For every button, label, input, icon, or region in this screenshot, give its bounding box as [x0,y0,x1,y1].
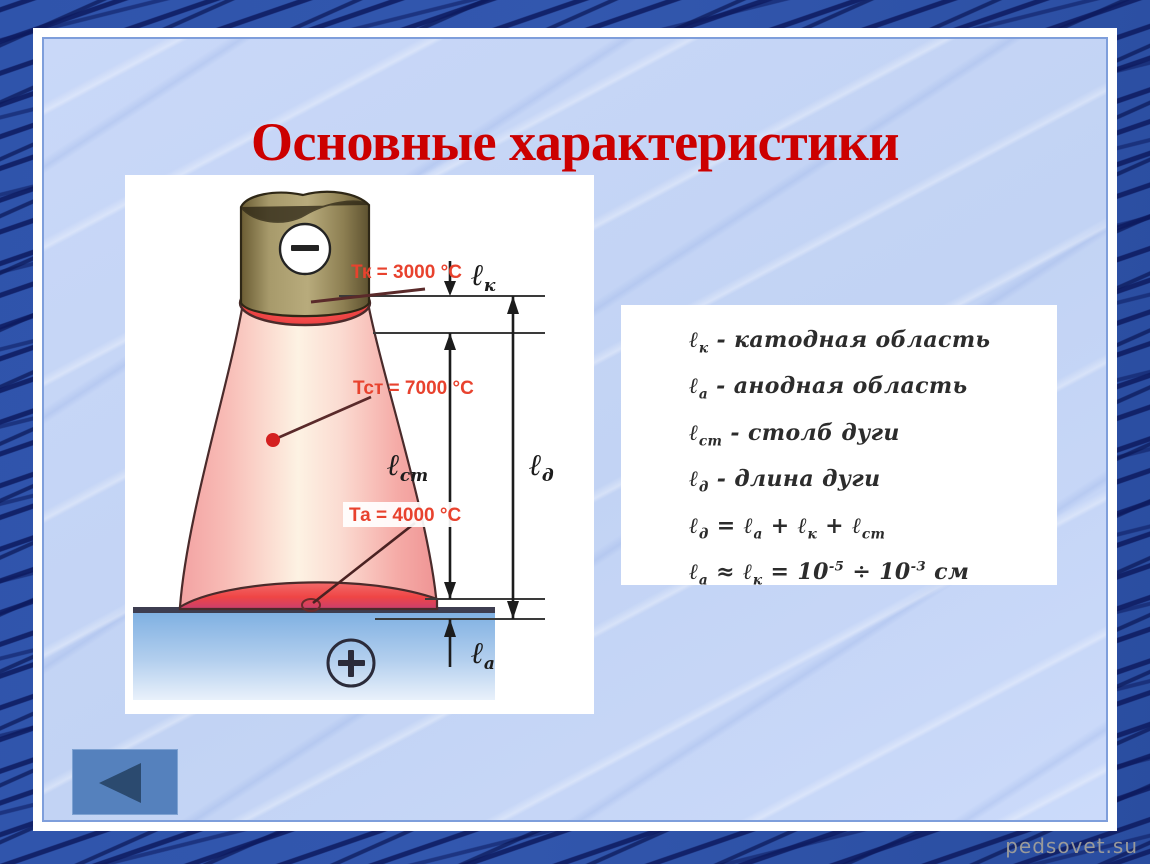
legend-symbol-la: ℓа [689,373,708,399]
legend-text-anode: - анодная область [708,373,967,399]
dim-arrow-lk [444,281,456,296]
anode-temp-label: Та = 4000 °C [349,505,461,526]
back-arrow-icon [99,763,141,803]
legend-text-cathode: - катодная область [708,327,990,353]
legend-panel: ℓк - катодная область ℓа - анодная облас… [621,305,1057,585]
column-temp-point [266,433,280,447]
dim-label-lk: ℓк [471,258,496,296]
minus-icon [291,245,319,251]
electric-arc-diagram: Тк = 3000 °C Тст = 7000 °C Та = 4000 °C … [125,175,594,714]
legend-formula-magnitude: ℓа ≈ ℓк = 10-5 ÷ 10-3 см [689,559,1057,588]
legend-item-cathode: ℓк - катодная область [689,327,1057,356]
plus-icon-v [348,650,354,677]
slide-canvas: Основные характеристики [44,39,1106,820]
cathode-temp-label: Тк = 3000 °C [351,262,462,283]
legend-symbol-lst: ℓст [689,420,722,446]
arc-diagram-svg: Тк = 3000 °C Тст = 7000 °C Та = 4000 °C … [125,175,594,714]
legend-item-anode: ℓа - анодная область [689,373,1057,402]
dim-label-ld: ℓд [529,448,554,486]
dim-arrow-ld-bottom [507,601,519,619]
page-title: Основные характеристики [44,111,1106,173]
dim-arrow-ld-top [507,296,519,314]
legend-item-arclength: ℓд - длина дуги [689,466,1057,495]
legend-formula-sum: ℓд = ℓа + ℓк + ℓст [689,513,1057,542]
watermark: pedsovet.su [1005,834,1138,858]
legend-text-column: - столб дуги [722,420,899,446]
legend-symbol-ld: ℓд [689,466,709,492]
dim-arrow-lst-top [444,333,456,350]
back-button[interactable] [72,749,178,815]
dim-label-lst: ℓст [387,448,428,486]
dim-arrow-lst-bottom [444,582,456,599]
legend-text-arclength: - длина дуги [709,466,881,492]
column-temp-label: Тст = 7000 °C [353,378,474,399]
slide-root: Основные характеристики [0,0,1150,864]
legend-symbol-lk: ℓк [689,327,708,353]
anode-block [133,612,495,700]
legend-item-column: ℓст - столб дуги [689,420,1057,449]
